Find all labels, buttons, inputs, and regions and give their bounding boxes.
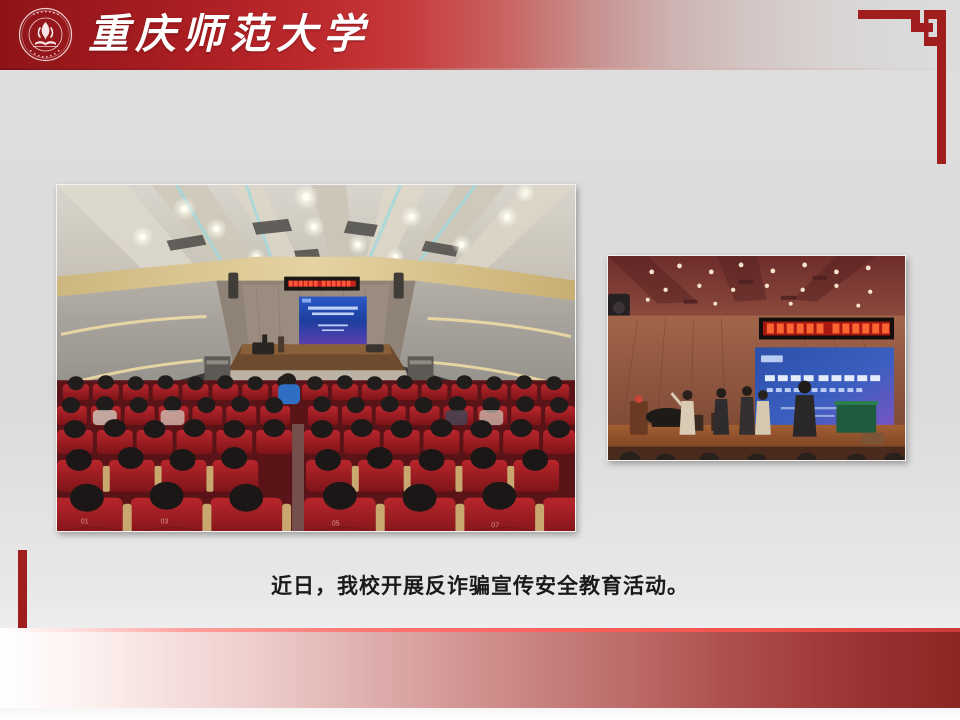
footer-base-strip [0, 708, 960, 720]
auditorium-audience-photo: 01 03 05 07 [56, 184, 576, 532]
svg-text:03: 03 [161, 519, 169, 526]
university-name-title: 重庆师范大学 [88, 6, 370, 62]
svg-text:01: 01 [81, 519, 89, 526]
slide-caption: 近日，我校开展反诈骗宣传安全教育活动。 [0, 570, 960, 600]
svg-text:07: 07 [491, 523, 499, 530]
stage-photo-artwork [608, 256, 905, 461]
auditorium-banner-text [288, 281, 356, 287]
university-seal-icon [18, 7, 73, 62]
slide-canvas: 重庆师范大学 [0, 0, 960, 720]
stage-presentation-photo [607, 255, 906, 461]
screen-title-text [765, 375, 880, 381]
footer-banner [0, 632, 960, 708]
corner-ornament-top-right-icon [858, 6, 950, 166]
screen-subtitle-text [767, 388, 862, 392]
auditorium-photo-artwork: 01 03 05 07 [57, 185, 575, 532]
header-underline [0, 68, 960, 70]
